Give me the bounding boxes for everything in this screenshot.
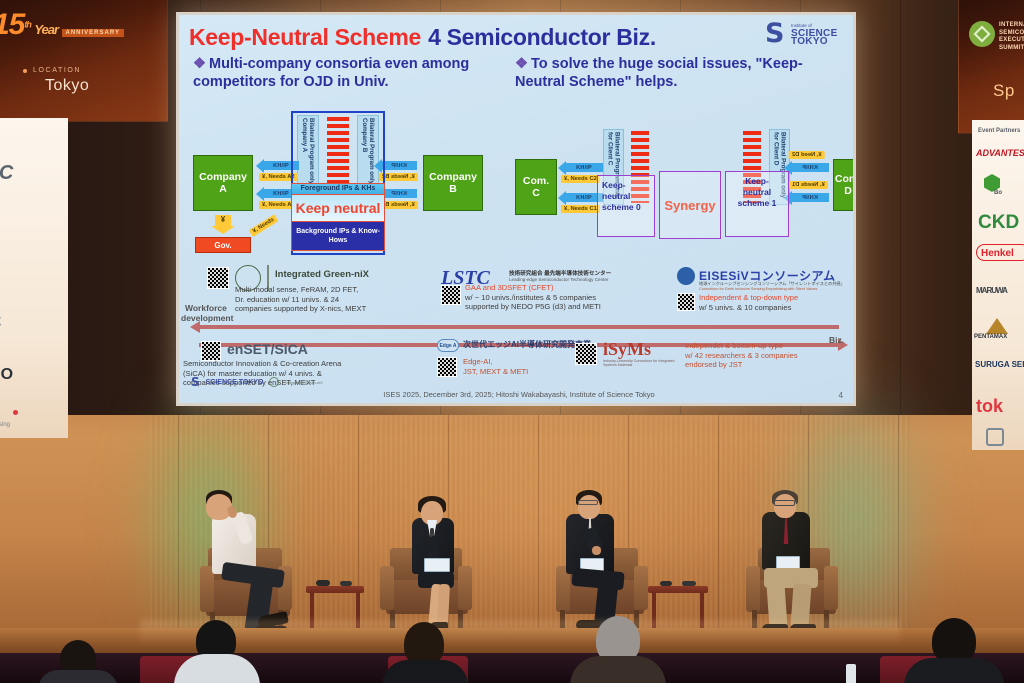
diagram-arrow-b-khip-2: KH/IP [381, 189, 417, 198]
diagram-arrow-d-khip-2: KH/IP [791, 193, 829, 202]
program-body-eisesiv: Independent & top-down type w/ 5 univs. … [699, 293, 856, 312]
com-d-label-1: Com. [835, 173, 856, 185]
lstc-line-2: w/ ~ 10 univs./institutes & 5 companies [465, 293, 596, 302]
diagram-company-a: Company A [193, 155, 253, 211]
ises-diamond-icon [969, 21, 995, 47]
anniversary-year: Year [34, 22, 58, 37]
slide-footer-text: ISES 2025, December 3rd, 2025; Hitoshi W… [179, 387, 856, 401]
table-item-device [316, 580, 330, 586]
isyms-line-1: Independet & bottom-up type [685, 341, 783, 350]
diagram-tag-c2: ¥, Needs C2 [561, 175, 600, 183]
wood-plank-seam [538, 415, 539, 630]
chair-arm-right [458, 566, 472, 610]
table-item-device-3 [660, 581, 672, 586]
diagram-background-ips: Background IPs & Know-Hows [291, 221, 385, 251]
banner-right-partners: Event Partners ADVANTEST Bo CKD Henkel M… [972, 120, 1024, 450]
location-dot-icon [23, 69, 27, 73]
program-body-green-nix: Multi-modal sense, FeRAM, 2D FET, Dr. ed… [235, 285, 435, 314]
audience-member-shoulders [904, 658, 1004, 683]
slide-title: Keep-Neutral Scheme 4 Semiconductor Biz. [189, 21, 849, 53]
panelist-3-hand [592, 546, 601, 555]
science-tokyo-s-mark: S [765, 21, 787, 47]
sponsor-heading: Sp [993, 81, 1015, 101]
chair-arm-right [824, 566, 838, 610]
bullet-2-text: To solve the huge social issues, "Keep-N… [515, 56, 803, 90]
logo-tokyo: TOKYO [791, 38, 838, 46]
presentation-slide: Keep-Neutral Scheme 4 Semiconductor Biz.… [179, 15, 853, 403]
anniversary-badge: 15th Year ANNIVERSARY [0, 11, 124, 39]
program-title-edge-ai: 次世代エッジAI半導体研究開発事業 [463, 339, 591, 350]
wood-plank-seam [178, 415, 179, 630]
diagram-com-d: Com. D [833, 159, 856, 211]
ises-org-name: INTERNATIONAL SEMICONDUCTOR EXECUTIVE SU… [999, 22, 1024, 52]
isyms-subtitle: Industry-University Consortium for Integ… [603, 359, 681, 367]
anniversary-ribbon: ANNIVERSARY [62, 29, 124, 37]
lstc-subtitle-en: Leading-edge Semiconductor Technology Ce… [509, 277, 609, 282]
keep-neutral-diagram: Company A Bilateral Program only for Com… [179, 111, 856, 261]
diagram-arrow-c-khip-1: KH/IP [565, 163, 603, 172]
eisesiv-subtitle-en: Consortium for Earth Inclusive Sensing E… [699, 287, 817, 291]
wood-plank-seam [898, 415, 899, 630]
slide-bullet-2: ❖To solve the huge social issues, "Keep-… [515, 55, 845, 91]
audience-member-shoulders [38, 670, 118, 683]
company-b-label-1: Company [429, 171, 477, 183]
qr-code-eisesiv[interactable] [677, 293, 695, 311]
panelist-4-head [774, 494, 796, 518]
panelist-4-glasses-icon [774, 500, 795, 506]
bullet-1-text: Multi-company consortia even among compe… [193, 56, 469, 90]
table-item-device-4 [682, 581, 696, 586]
program-body-lstc: GAA and 3DSFET (CFET) w/ ~ 10 univs./ins… [465, 283, 675, 312]
stage-floor-reflection [140, 620, 900, 646]
sponsor-logo-ec: ec [0, 304, 1, 335]
enset-line-1: Semiconductor Innovation & Co-creation A… [183, 359, 341, 368]
slide-page-number: 4 [839, 391, 843, 400]
sponsor-logo-kuno: KUNO [0, 366, 13, 384]
sponsor-logo-nac: NAC [0, 162, 13, 185]
green-nix-line-3: companies supported by X-nics, MEXT [235, 304, 366, 313]
lstc-subtitle-jp: 技術研究組合 最先端半導体技術センター [509, 269, 611, 277]
partner-logo-bo: Bo [994, 190, 1002, 196]
ises-org-line3: EXECUTIVE SUMMIT [999, 37, 1024, 51]
axis-label-workforce-1: Workforce [185, 303, 227, 313]
lstc-line-3: supported by NEDO P5G (d3) and METI [465, 302, 601, 311]
banner-left-anniversary: 15th Year ANNIVERSARY LOCATION 3 Tokyo [0, 0, 168, 122]
axis-label-workforce-2: development [181, 313, 233, 323]
diagram-tag-c1: ¥, Needs C1 [561, 205, 600, 213]
footer-green-nix-label: Integrated Green-niX [285, 380, 322, 385]
isyms-line-2: w/ 42 researchers & 3 companies [685, 351, 798, 360]
panelist-2-leg-2 [437, 584, 450, 625]
partner-logo-ckd: CKD [978, 212, 1019, 234]
partner-logo-pentamax: PENTAMAX [974, 334, 1007, 340]
program-title-isyms: iSyMs [603, 339, 651, 360]
edge-ai-line-2: JST, MEXT & METI [463, 367, 528, 376]
chair-arm-left [380, 566, 394, 610]
panelist-3-glasses-icon [578, 500, 598, 505]
slide-title-semiconductor: 4 Semiconductor Biz. [428, 24, 656, 51]
partner-logo-henkel: Henkel [981, 248, 1014, 259]
conference-stage-scene: 15th Year ANNIVERSARY LOCATION 3 Tokyo N… [0, 0, 1024, 683]
footer-green-nix-icon [269, 377, 279, 387]
diagram-keep-neutral-scheme-0: Keep-neutralscheme 0 [597, 175, 655, 237]
table-item-device-2 [340, 581, 352, 586]
program-body-isyms: Independet & bottom-up type w/ 42 resear… [685, 341, 855, 370]
com-c-label-2: C [532, 187, 540, 199]
edge-ai-line-1: Edge-AI, [463, 357, 493, 366]
eisesiv-line-2: w/ 5 univs. & 10 companies [699, 303, 791, 312]
diagram-tag-yen-needs: ¥, Needs [249, 214, 279, 237]
banner-left-sponsors: NAC exchange are ec KUNO N|A| wet proces… [0, 118, 68, 438]
eisesiv-line-1: Independent & top-down type [699, 293, 798, 302]
qr-code-lstc[interactable] [441, 285, 461, 305]
lstc-line-1: GAA and 3DSFET (CFET) [465, 283, 553, 292]
diagram-com-c: Com. C [515, 159, 557, 215]
qr-code-isyms[interactable] [575, 343, 597, 365]
projection-screen: Keep-Neutral Scheme 4 Semiconductor Biz.… [176, 12, 856, 406]
diagram-yen-arrow-gov: ¥ [215, 215, 231, 227]
program-title-enset: enSET/SiCA [227, 341, 308, 357]
bullet-diamond-icon: ❖ [515, 56, 528, 72]
qr-code-enset[interactable] [201, 341, 221, 361]
diagram-keep-neutral-text: Keep neutral [292, 200, 384, 216]
isyms-line-3: endorsed by JST [685, 360, 742, 369]
partner-logo-advantest: ADVANTEST [976, 148, 1024, 158]
wall-panel-seam [900, 0, 901, 420]
eisesiv-globe-icon [677, 267, 695, 285]
hand-sanitizer-bottle [846, 664, 856, 683]
ises-org-line2: SEMICONDUCTOR [999, 30, 1024, 36]
banner-right-event: INTERNATIONAL SEMICONDUCTOR EXECUTIVE SU… [958, 0, 1024, 134]
diagram-arrow-d-khip-1: KH/IP [791, 163, 829, 172]
edge-ai-badge-icon: Edge A [437, 339, 459, 352]
ises-org-line1: INTERNATIONAL [999, 22, 1024, 28]
anniversary-ordinal: th [24, 20, 31, 30]
diagram-foreground-ips: Foreground IPs & KHs [291, 183, 385, 195]
panelist-3-head [578, 495, 600, 519]
qr-code-edge-ai[interactable] [437, 357, 457, 377]
audience-member-shoulders [570, 656, 666, 683]
wood-plank-seam [718, 415, 719, 630]
diagram-synergy-box: Synergy [659, 171, 721, 239]
diagram-keep-neutral-band: Keep neutral [291, 195, 385, 221]
location-label: LOCATION [33, 67, 81, 74]
footer-science-tokyo: SCIENCE TOKYO [206, 379, 264, 386]
diagram-arrow-b-khip-1: KH/IP [381, 161, 417, 170]
partner-logo-suruga-seiki: SURUGA SEIKI [975, 360, 1024, 369]
program-body-edge-ai: Edge-AI, JST, MEXT & METI [463, 357, 583, 376]
partner-logo-tok: tok [976, 396, 1003, 417]
company-a-label-1: Company [199, 171, 247, 183]
side-table-right [648, 586, 708, 593]
com-c-label-1: Com. [523, 175, 549, 187]
bullet-diamond-icon: ❖ [193, 56, 206, 72]
partner-logo-maruwa: MARUWA [976, 286, 1007, 295]
program-title-green-nix: Integrated Green-niX [275, 269, 369, 280]
axis-arrow-workforce [199, 325, 839, 329]
diagram-tag-d1: ¥, Needs D1 [789, 181, 828, 189]
company-a-label-2: A [219, 183, 227, 195]
company-b-label-2: B [449, 183, 457, 195]
green-nix-line-2: Dr. education w/ 11 univs. & 24 [235, 295, 339, 304]
chair-arm-right [634, 566, 648, 610]
partner-generic-icon [986, 428, 1004, 446]
science-tokyo-logo: S Institute of SCIENCE TOKYO [765, 19, 847, 49]
diagram-tag-d2: ¥, Need D2 [789, 151, 825, 159]
com-d-label-2: D [844, 185, 852, 197]
slide-title-keep-neutral: Keep-Neutral Scheme [189, 24, 421, 51]
audience-member-shoulders [382, 660, 468, 683]
name-badge [424, 558, 450, 572]
anniversary-number: 15 [0, 8, 24, 41]
sponsor-tagline-wet-processing: wet processing [0, 422, 10, 428]
diagram-keep-neutral-scheme-1: Keep-neutralscheme 1 [725, 171, 789, 237]
slide-bullet-1: ❖Multi-company consortia even among comp… [193, 55, 493, 91]
qr-code-green-nix[interactable] [207, 267, 229, 289]
partners-heading: Event Partners [978, 128, 1020, 134]
sponsor-accent-dot-icon [13, 410, 18, 415]
location-city: Tokyo [45, 77, 89, 95]
green-nix-line-1: Multi-modal sense, FeRAM, 2D FET, [235, 285, 358, 294]
diagram-company-b: Company B [423, 155, 483, 211]
diagram-gov-box: Gov. [195, 237, 251, 253]
partner-pentamax-icon [986, 318, 1008, 334]
chair-arm-left [746, 566, 760, 612]
